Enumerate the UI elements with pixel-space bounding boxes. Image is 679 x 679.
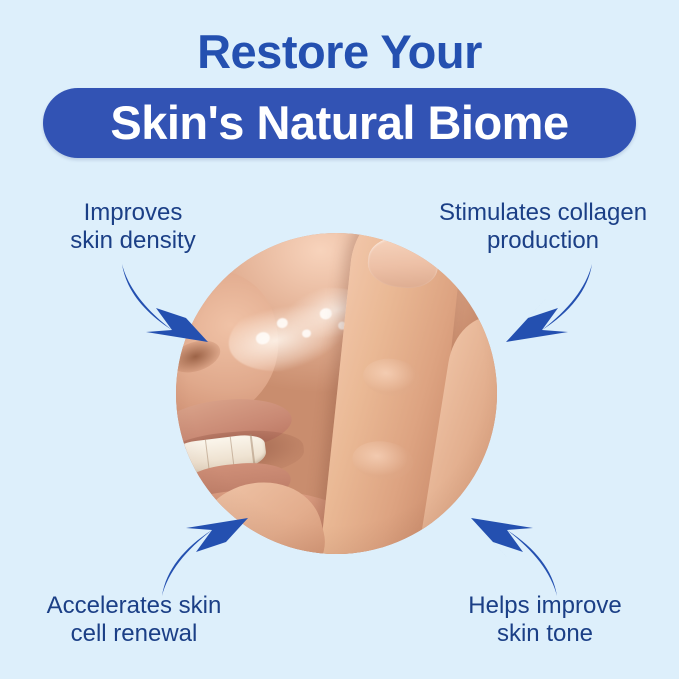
- benefit-label-stimulates-collagen-production: Stimulates collagen production: [418, 199, 668, 255]
- curved-arrow-up-right-icon: [150, 494, 260, 602]
- curved-arrow-up-left-icon: [459, 494, 569, 602]
- benefit-label-accelerates-skin-cell-renewal: Accelerates skin cell renewal: [14, 592, 254, 648]
- infographic-canvas: Restore Your Skin's Natural Biome: [0, 0, 679, 679]
- curved-arrow-down-left-icon: [494, 258, 604, 366]
- curved-arrow-down-right-icon: [110, 258, 220, 366]
- headline-banner: Skin's Natural Biome: [43, 88, 636, 158]
- benefit-label-helps-improve-skin-tone: Helps improve skin tone: [425, 592, 665, 648]
- page-title: Restore Your: [0, 26, 679, 78]
- headline-banner-text: Skin's Natural Biome: [110, 98, 568, 148]
- benefit-label-improves-skin-density: Improves skin density: [28, 199, 238, 255]
